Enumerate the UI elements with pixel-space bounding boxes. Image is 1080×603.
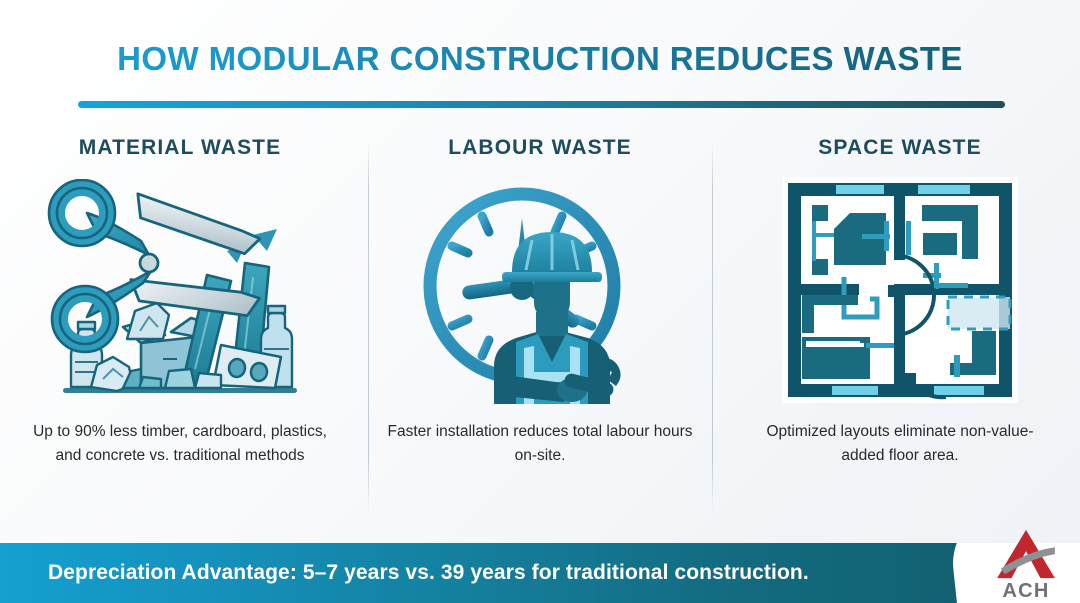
columns-container: MATERIAL WASTE — [0, 136, 1080, 526]
banner-text: Depreciation Advantage: 5–7 years vs. 39… — [48, 561, 809, 585]
ach-logo-text: ACH — [1003, 581, 1050, 601]
ach-logo-mark — [995, 528, 1057, 580]
column-caption-labour-waste: Faster installation reduces total labour… — [385, 420, 695, 467]
page-title: HOW MODULAR CONSTRUCTION REDUCES WASTE — [0, 40, 1080, 78]
column-title-labour-waste: LABOUR WASTE — [448, 136, 632, 160]
ach-logo: ACH — [980, 519, 1072, 601]
column-caption-material-waste: Up to 90% less timber, cardboard, plasti… — [25, 420, 335, 467]
column-material-waste: MATERIAL WASTE — [0, 136, 360, 526]
depreciation-banner: Depreciation Advantage: 5–7 years vs. 39… — [0, 543, 1080, 603]
column-labour-waste: LABOUR WASTE — [360, 136, 720, 526]
column-title-space-waste: SPACE WASTE — [818, 136, 981, 160]
floor-plan-icon — [782, 170, 1018, 410]
column-title-material-waste: MATERIAL WASTE — [79, 136, 281, 160]
column-space-waste: SPACE WASTE — [720, 136, 1080, 526]
scissors-over-waste-pile-icon — [45, 170, 315, 410]
column-caption-space-waste: Optimized layouts eliminate non-value-ad… — [745, 420, 1055, 467]
infographic-canvas: HOW MODULAR CONSTRUCTION REDUCES WASTE M… — [0, 0, 1080, 603]
title-accent-rule — [78, 101, 1005, 108]
clock-with-construction-worker-icon — [412, 170, 668, 410]
